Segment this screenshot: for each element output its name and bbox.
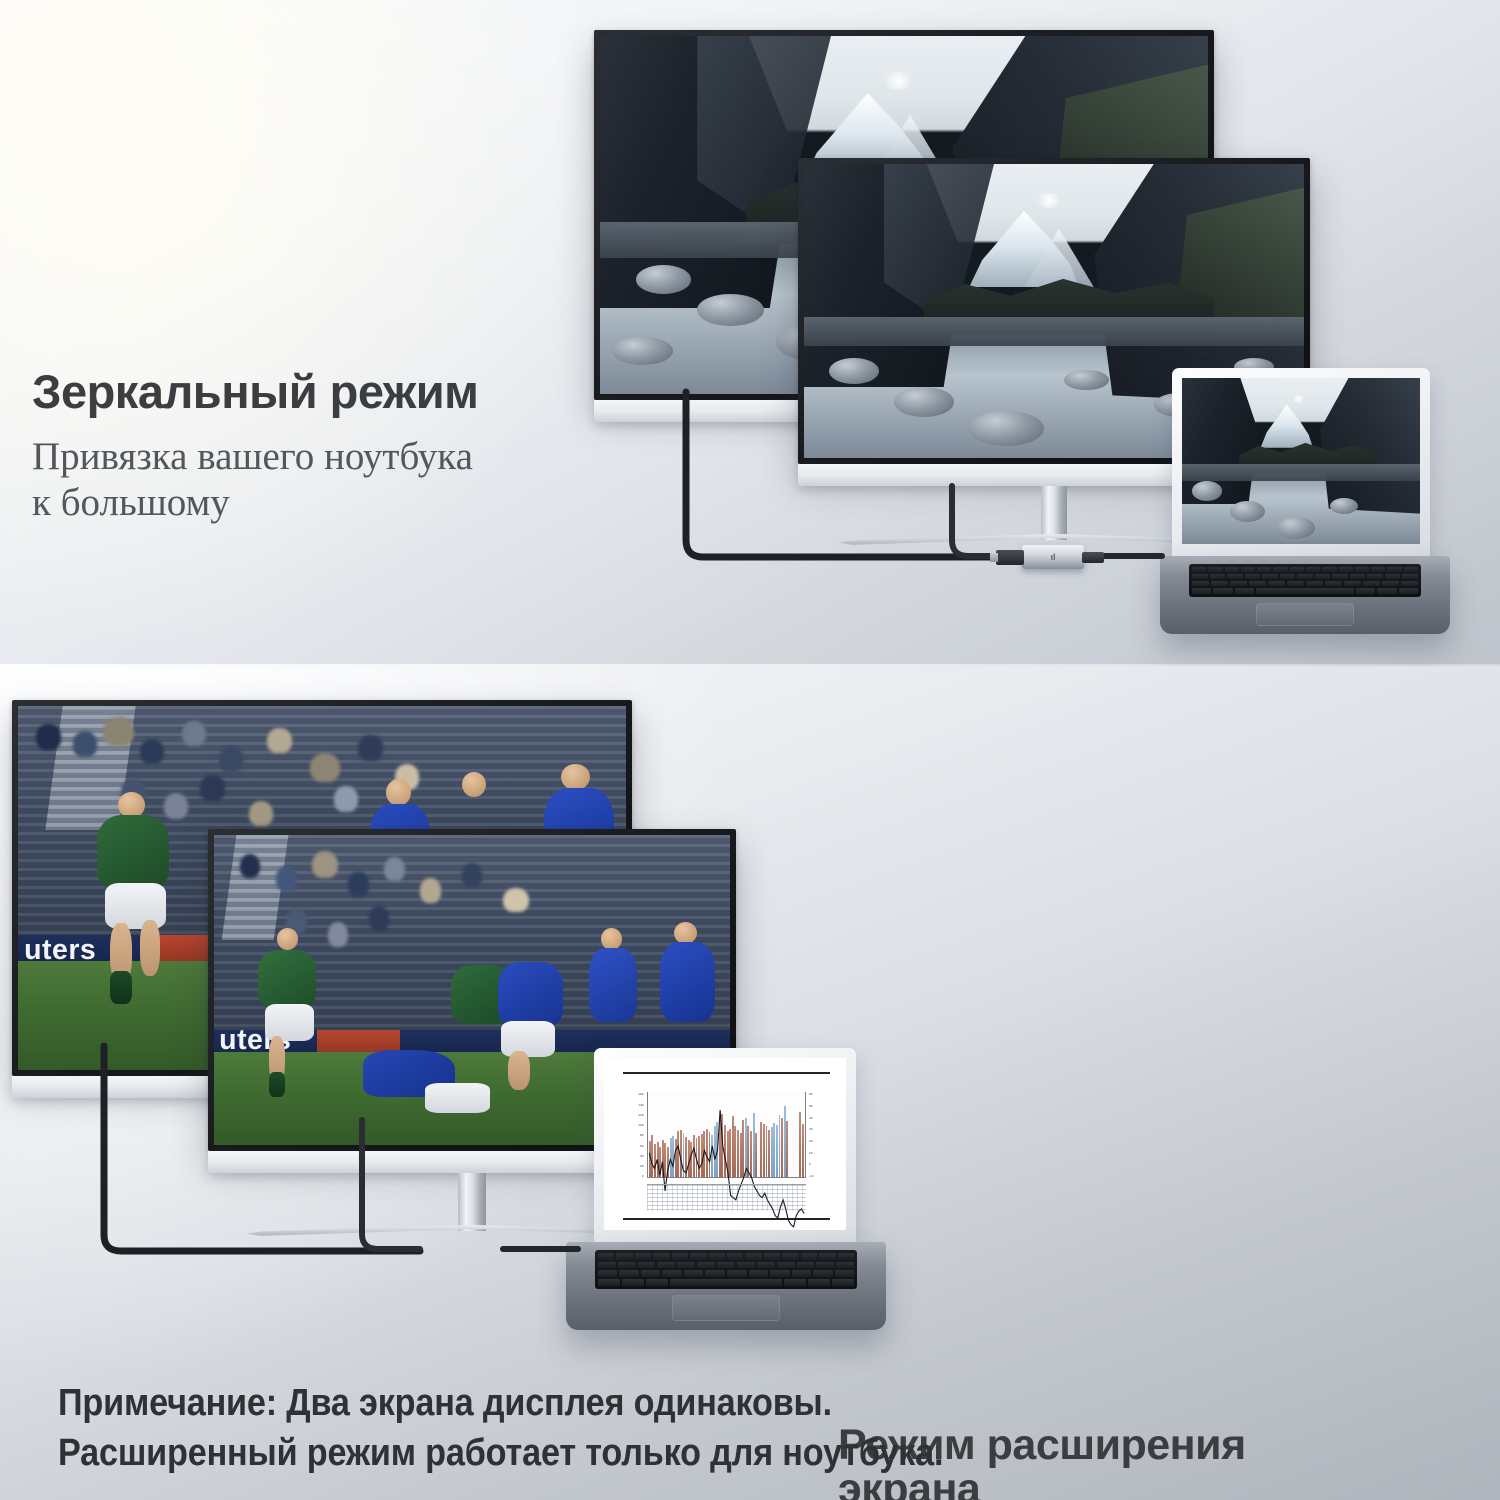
laptop-screen: 160140120100806040200 6050403020100-10 (604, 1058, 846, 1230)
chart-axis-tick: 120 (638, 1113, 643, 1117)
chart-axis-tick: 60 (640, 1144, 643, 1148)
laptop-keyboard[interactable] (1189, 564, 1421, 597)
chart-y-axis-right: 6050403020100-10 (807, 1092, 834, 1178)
mirror-subline-line2: к большому (32, 480, 692, 526)
mirror-mode-text: Зеркальный режим Привязка вашего ноутбук… (32, 368, 692, 526)
chart-axis-tick: 60 (809, 1092, 812, 1096)
adapter-plug-right (1082, 552, 1104, 563)
chart-y-axis-left: 160140120100806040200 (619, 1092, 646, 1178)
extend-mode-panel: uters (0, 666, 1500, 1500)
laptop-base (1160, 556, 1450, 634)
infographic-page: Зеркальный режим Привязка вашего ноутбук… (0, 0, 1500, 1500)
chart-axis-tick: 80 (640, 1133, 643, 1137)
note-line-1: Примечание: Два экрана дисплея одинаковы… (58, 1378, 1318, 1428)
chart-data-table (647, 1184, 806, 1211)
adapter-plug-tip-left (990, 553, 998, 562)
hdmi-adapter-mirror: ıl (1022, 545, 1084, 569)
chart-axis-tick: 10 (809, 1151, 812, 1155)
valley-photo-laptop (1182, 378, 1420, 544)
laptop-lid: 160140120100806040200 6050403020100-10 (594, 1048, 856, 1244)
chart-axis-tick: 0 (642, 1174, 644, 1178)
laptop-keyboard[interactable] (595, 1250, 857, 1289)
chart-axis-tick: 100 (638, 1123, 643, 1127)
chart-screen: 160140120100806040200 6050403020100-10 (604, 1058, 846, 1230)
chart-axis-tick: 140 (638, 1103, 643, 1107)
mirror-laptop (1160, 368, 1450, 638)
adapter-plug-left (996, 550, 1024, 565)
chart-axis-tick: 30 (809, 1127, 812, 1131)
footer-note: Примечание: Два экрана дисплея одинаковы… (58, 1378, 1318, 1478)
monitor-neck (458, 1173, 486, 1231)
mirror-mode-headline: Зеркальный режим (32, 368, 692, 416)
laptop-screen (1182, 378, 1420, 544)
chart-plot-area (647, 1092, 806, 1178)
laptop-lid (1172, 368, 1430, 558)
laptop-trackpad[interactable] (1256, 603, 1355, 626)
chart-axis-tick: 50 (809, 1104, 812, 1108)
chart-axis-tick: -10 (809, 1174, 813, 1178)
laptop-base (566, 1242, 886, 1330)
laptop-trackpad[interactable] (672, 1295, 781, 1321)
note-line-2: Расширенный режим работает только для но… (58, 1428, 1318, 1478)
chart-axis-tick: 20 (809, 1139, 812, 1143)
chart-axis-tick: 160 (638, 1092, 643, 1096)
adapter-logo: ıl (1050, 552, 1055, 562)
combo-chart: 160140120100806040200 6050403020100-10 (619, 1072, 834, 1220)
extend-laptop: 160140120100806040200 6050403020100-10 (566, 1048, 886, 1348)
mirror-mode-panel: Зеркальный режим Привязка вашего ноутбук… (0, 0, 1500, 666)
chart-axis-tick: 0 (809, 1162, 811, 1166)
mirror-mode-subline: Привязка вашего ноутбука к большому (32, 434, 692, 526)
chart-axis-tick: 40 (640, 1154, 643, 1158)
mirror-subline-line1: Привязка вашего ноутбука (32, 434, 692, 480)
chart-axis-tick: 40 (809, 1116, 812, 1120)
chart-axis-tick: 20 (640, 1164, 643, 1168)
monitor-neck (1041, 486, 1067, 540)
